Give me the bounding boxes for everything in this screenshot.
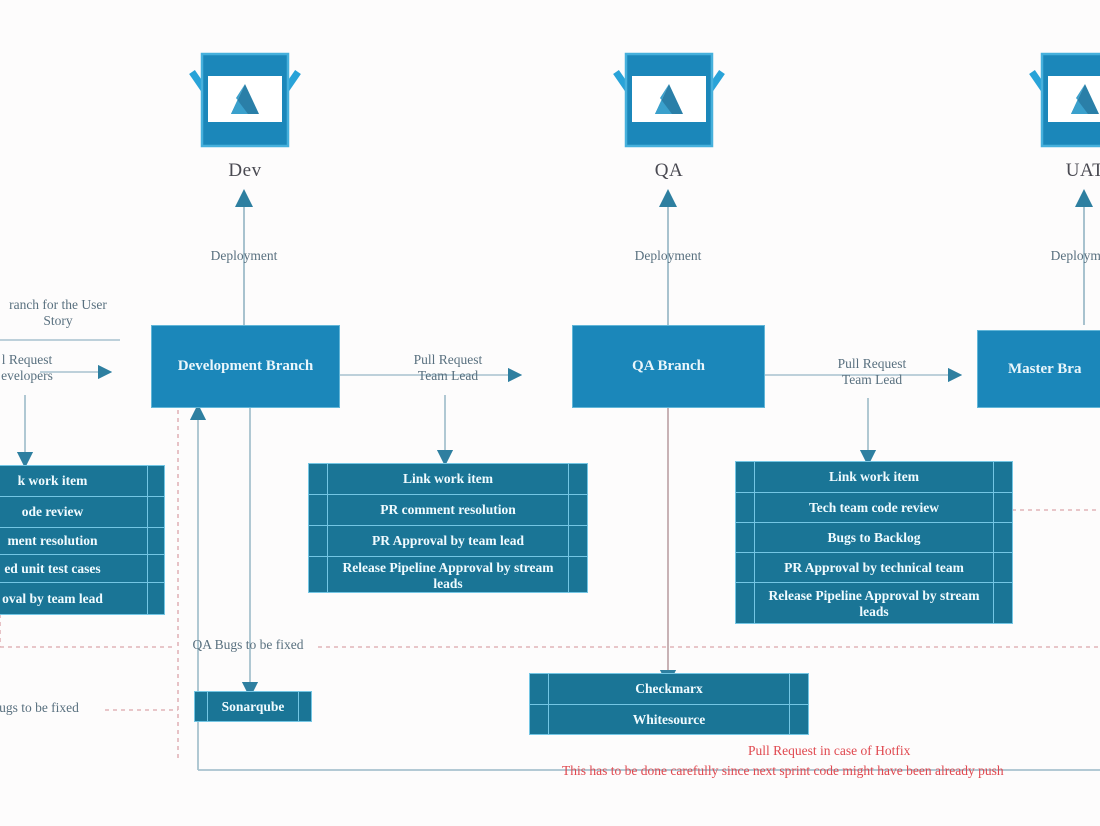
env-label-uat: UAT: [1005, 160, 1100, 182]
branch-master[interactable]: Master Bra: [977, 330, 1100, 408]
checklist-row: Bugs to Backlog: [736, 523, 1012, 553]
branch-master-label: Master Bra: [1008, 361, 1081, 378]
deployment-label-qa: Deployment: [608, 248, 728, 264]
label-pull-request-team-lead-1: Pull Request Team Lead: [388, 352, 508, 383]
tool-label: Sonarqube: [195, 692, 311, 721]
checklist-row: ment resolution: [0, 528, 164, 555]
label-pull-request-developers: l Request evelopers: [0, 352, 92, 383]
checklist-row: oval by team lead: [0, 583, 164, 614]
tool-label: Checkmarx: [530, 674, 808, 705]
branch-development-label: Development Branch: [178, 358, 313, 375]
note-hotfix-warning: This has to be done carefully since next…: [562, 763, 1004, 779]
branch-qa-label: QA Branch: [632, 358, 705, 375]
master-branch-checklist: Link work item Tech team code review Bug…: [735, 461, 1013, 624]
deployment-label-dev: Deployment: [184, 248, 304, 264]
tool-label: Whitesource: [530, 705, 808, 735]
dev-checklist: k work item ode review ment resolution e…: [0, 465, 165, 615]
checklist-row: Link work item: [736, 462, 1012, 493]
tool-sonarqube: Sonarqube: [194, 691, 312, 722]
env-label-dev: Dev: [165, 160, 325, 182]
azure-deployment-box-icon: [186, 46, 304, 151]
azure-deployment-box-icon: [1026, 46, 1100, 151]
deployment-label-uat: Deployment: [1024, 248, 1100, 264]
branch-qa[interactable]: QA Branch: [572, 325, 765, 408]
checklist-row: Link work item: [309, 464, 587, 495]
qa-branch-checklist: Link work item PR comment resolution PR …: [308, 463, 588, 593]
azure-deployment-box-icon: [610, 46, 728, 151]
checklist-row: PR Approval by team lead: [309, 526, 587, 557]
checklist-row: Tech team code review: [736, 493, 1012, 523]
label-bugs-to-be-fixed: ugs to be fixed: [0, 700, 106, 716]
checklist-row: ode review: [0, 497, 164, 528]
security-scan-tools: Checkmarx Whitesource: [529, 673, 809, 735]
label-branch-for-user-story: ranch for the User Story: [0, 297, 138, 328]
diagram-canvas: Dev QA UAT Deployment Deployment Deploym…: [0, 0, 1100, 826]
checklist-row: PR comment resolution: [309, 495, 587, 526]
checklist-row: Release Pipeline Approval by stream lead…: [736, 583, 1012, 624]
checklist-row: ed unit test cases: [0, 555, 164, 583]
label-qa-bugs-to-be-fixed: QA Bugs to be fixed: [176, 637, 320, 653]
label-pull-request-team-lead-2: Pull Request Team Lead: [812, 356, 932, 387]
checklist-row: PR Approval by technical team: [736, 553, 1012, 583]
checklist-row: Release Pipeline Approval by stream lead…: [309, 557, 587, 594]
note-pull-request-hotfix: Pull Request in case of Hotfix: [748, 743, 910, 759]
branch-development[interactable]: Development Branch: [151, 325, 340, 408]
env-label-qa: QA: [589, 160, 749, 182]
checklist-row: k work item: [0, 466, 164, 497]
